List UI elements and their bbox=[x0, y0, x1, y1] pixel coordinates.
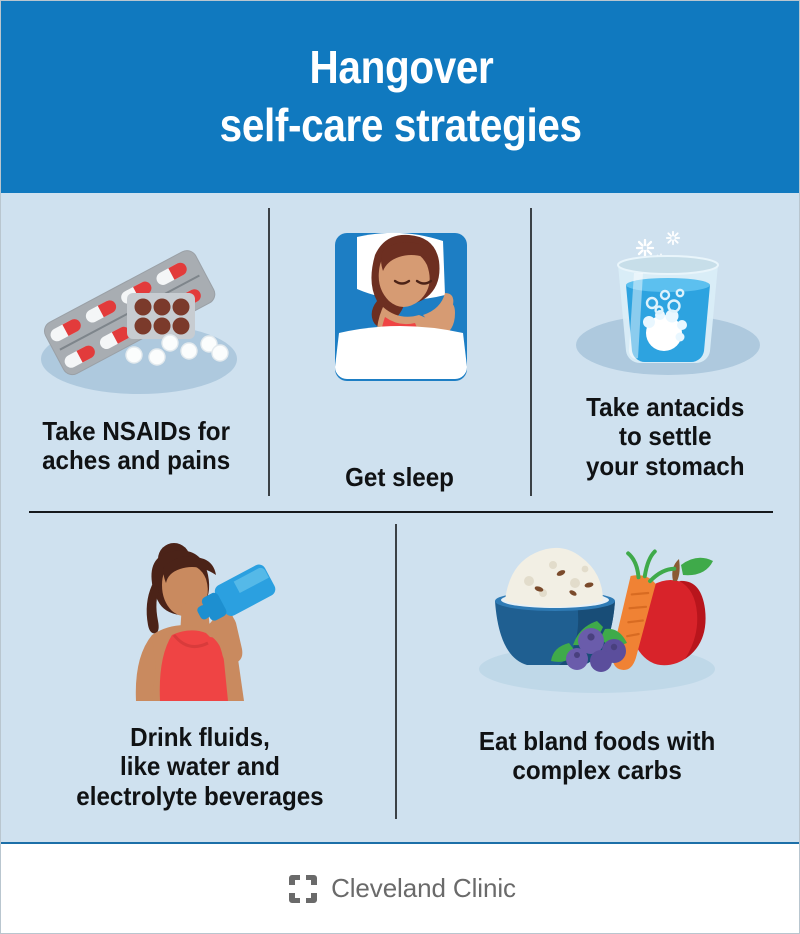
strategy-caption-line: Take NSAIDs for bbox=[42, 417, 230, 446]
strategy-caption-line: Eat bland foods with bbox=[479, 727, 715, 756]
divider-horizontal bbox=[29, 511, 773, 513]
pills-blister-pack-icon bbox=[17, 219, 257, 399]
divider-top-right bbox=[530, 208, 532, 496]
strategy-caption-line: your stomach bbox=[586, 452, 745, 481]
bowl-of-rice-with-fruit-and-vegetable-icon bbox=[457, 533, 737, 703]
strategy-caption-line: Get sleep bbox=[346, 463, 455, 492]
strategy-card-fluids: Drink fluids, like water and electrolyte… bbox=[9, 525, 391, 817]
woman-sleeping-in-bed-icon bbox=[313, 221, 488, 391]
strategy-card-bland-foods: Eat bland foods with complex carbs bbox=[401, 525, 793, 817]
divider-top-left bbox=[268, 208, 270, 496]
infographic-card: Hangover self-care strategies bbox=[0, 0, 800, 934]
infographic-footer: Cleveland Clinic bbox=[1, 844, 800, 933]
strategy-card-sleep: Get sleep bbox=[276, 205, 524, 501]
strategy-caption-line: Take antacids bbox=[586, 393, 745, 422]
footer-logo-text: Cleveland Clinic bbox=[331, 873, 516, 904]
infographic-header: Hangover self-care strategies bbox=[1, 1, 800, 193]
strategy-caption-line: like water and bbox=[76, 752, 323, 781]
strategy-card-antacids: Take antacids to settle your stomach bbox=[538, 205, 793, 501]
divider-bottom bbox=[395, 524, 397, 819]
strategy-caption-line: complex carbs bbox=[479, 756, 715, 785]
effervescent-tablet-in-glass-icon bbox=[556, 215, 776, 387]
strategy-caption-line: Drink fluids, bbox=[76, 723, 323, 752]
strategy-card-nsaids: Take NSAIDs for aches and pains bbox=[9, 205, 264, 501]
strategy-caption-line: electrolyte beverages bbox=[76, 782, 323, 811]
strategy-caption-line: aches and pains bbox=[42, 446, 230, 475]
page-title-line-2: self-care strategies bbox=[220, 97, 582, 155]
strategies-grid: Take NSAIDs for aches and pains bbox=[1, 193, 800, 844]
woman-drinking-water-bottle-icon bbox=[90, 531, 310, 701]
page-title-line-1: Hangover bbox=[309, 39, 493, 97]
cleveland-clinic-logo-icon bbox=[286, 872, 320, 906]
strategy-caption-line: to settle bbox=[586, 422, 745, 451]
